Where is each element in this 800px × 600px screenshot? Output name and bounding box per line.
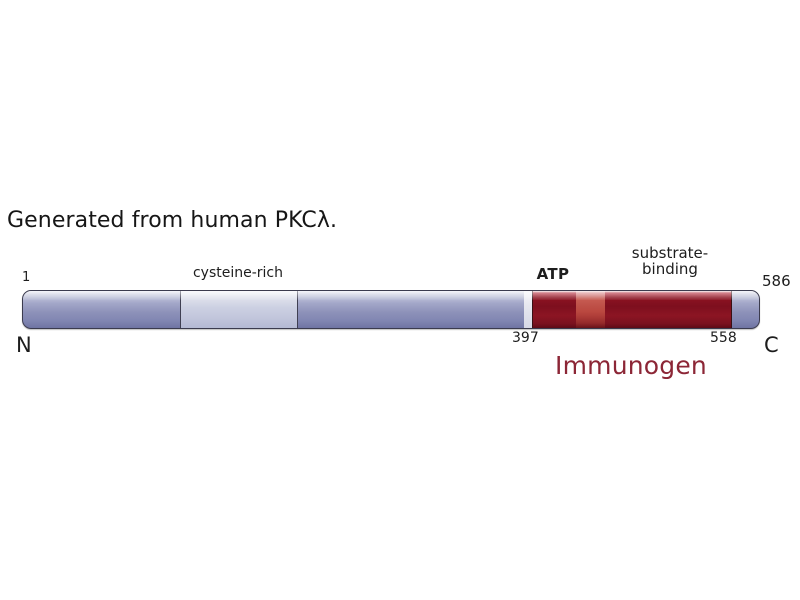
domain-segment-cysteine-rich bbox=[180, 291, 298, 328]
immunogen-start-label: 397 bbox=[512, 330, 539, 346]
n-terminus-label: N bbox=[16, 333, 32, 357]
domain-label-substrate-binding: substrate- binding bbox=[610, 246, 730, 277]
protein-backbone-bar bbox=[22, 290, 760, 329]
domain-label-atp: ATP bbox=[531, 265, 575, 283]
domain-label-substrate-binding-line2: binding bbox=[610, 262, 730, 278]
immunogen-label: Immunogen bbox=[531, 351, 731, 380]
immunogen-end-label: 558 bbox=[710, 330, 737, 346]
figure-caption: Generated from human PKCλ. bbox=[7, 208, 337, 233]
segment-gap-before-immunogen bbox=[524, 291, 532, 328]
immunogen-region-segment bbox=[532, 291, 732, 328]
protein-domain-figure: Generated from human PKCλ. 1 586 cystein… bbox=[0, 0, 800, 600]
c-terminus-label: C bbox=[764, 333, 779, 357]
domain-label-cysteine-rich: cysteine-rich bbox=[179, 265, 297, 281]
immunogen-highlight-band bbox=[576, 291, 605, 328]
residue-end-label: 586 bbox=[762, 272, 791, 290]
residue-start-label: 1 bbox=[22, 270, 30, 285]
